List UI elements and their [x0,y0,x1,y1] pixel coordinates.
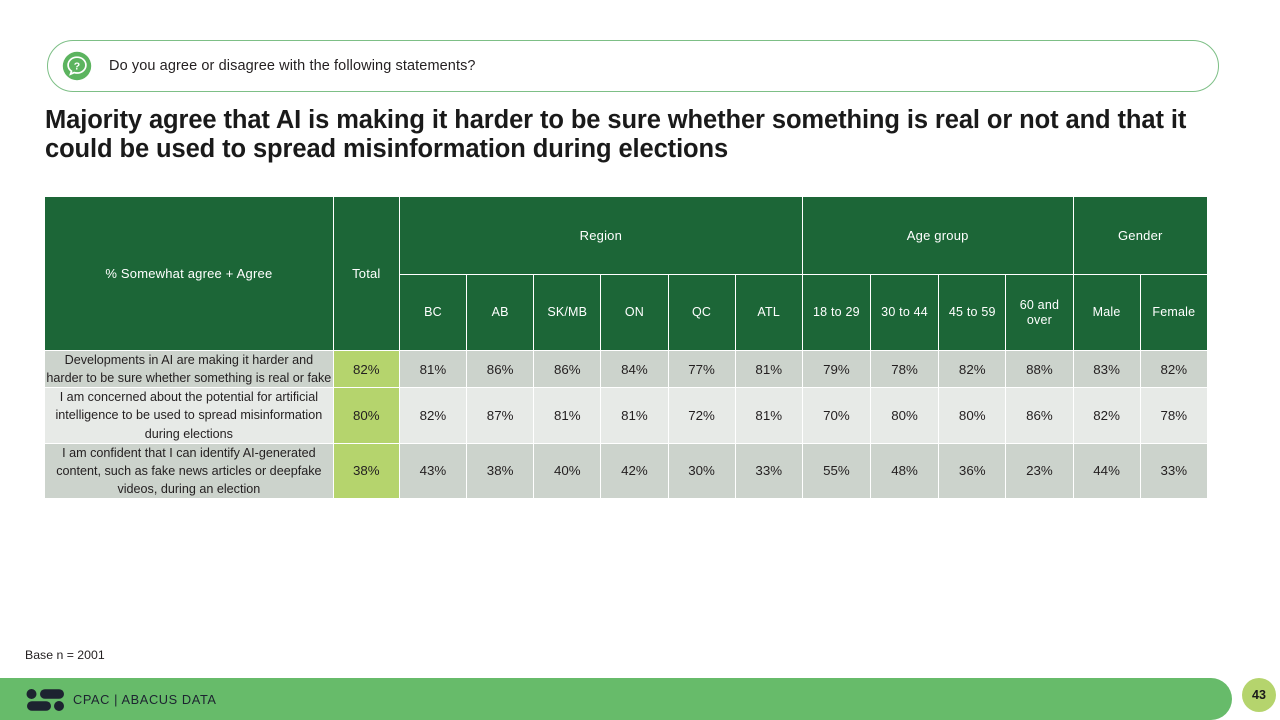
data-cell: 79% [802,351,870,388]
column-header-30-to-44: 30 to 44 [870,275,938,351]
row-label: I am confident that I can identify AI-ge… [45,443,334,498]
data-cell: 78% [1140,388,1207,443]
column-header-qc: QC [668,275,735,351]
header-group-row: % Somewhat agree + Agree Total RegionAge… [45,197,1208,275]
table-row: Developments in AI are making it harder … [45,351,1208,388]
column-header-male: Male [1073,275,1140,351]
data-cell: 86% [1006,388,1073,443]
data-cell: 86% [534,351,601,388]
data-cell: 82% [399,388,466,443]
data-cell: 82% [1073,388,1140,443]
column-header-female: Female [1140,275,1207,351]
column-header-on: ON [601,275,668,351]
data-cell: 42% [601,443,668,498]
cpac-dots-logo-icon [25,688,69,712]
table-row: I am confident that I can identify AI-ge… [45,443,1208,498]
stub-header: % Somewhat agree + Agree [45,197,334,351]
total-value: 82% [333,351,399,388]
data-cell: 84% [601,351,668,388]
data-cell: 78% [870,351,938,388]
page-number-badge: 43 [1242,678,1276,712]
data-cell: 33% [735,443,802,498]
data-cell: 83% [1073,351,1140,388]
data-cell: 81% [399,351,466,388]
column-header-18-to-29: 18 to 29 [802,275,870,351]
group-header: Age group [802,197,1073,275]
data-cell: 86% [467,351,534,388]
data-cell: 80% [870,388,938,443]
data-cell: 30% [668,443,735,498]
data-cell: 81% [601,388,668,443]
data-cell: 38% [467,443,534,498]
data-cell: 81% [735,388,802,443]
slide: ? Do you agree or disagree with the foll… [0,0,1280,720]
data-cell: 80% [939,388,1006,443]
total-value: 80% [333,388,399,443]
data-cell: 44% [1073,443,1140,498]
column-header-45-to-59: 45 to 59 [939,275,1006,351]
question-speech-bubble-icon: ? [62,51,92,81]
total-value: 38% [333,443,399,498]
row-label: Developments in AI are making it harder … [45,351,334,388]
column-header-ab: AB [467,275,534,351]
question-banner-text: Do you agree or disagree with the follow… [109,58,476,74]
data-cell: 88% [1006,351,1073,388]
data-cell: 82% [1140,351,1207,388]
base-note: Base n = 2001 [25,648,105,662]
data-cell: 43% [399,443,466,498]
question-banner: ? Do you agree or disagree with the foll… [47,40,1219,92]
data-cell: 81% [735,351,802,388]
data-cell: 70% [802,388,870,443]
column-header-60-and-over: 60 and over [1006,275,1073,351]
table-body: Developments in AI are making it harder … [45,351,1208,499]
page-title: Majority agree that AI is making it hard… [45,106,1205,164]
group-header: Region [399,197,802,275]
data-cell: 36% [939,443,1006,498]
total-header: Total [333,197,399,351]
column-header-bc: BC [399,275,466,351]
results-table: % Somewhat agree + Agree Total RegionAge… [44,196,1208,499]
data-cell: 23% [1006,443,1073,498]
data-cell: 40% [534,443,601,498]
column-header-atl: ATL [735,275,802,351]
data-cell: 87% [467,388,534,443]
footer-text: CPAC | ABACUS DATA [73,692,217,707]
data-cell: 77% [668,351,735,388]
table-header: % Somewhat agree + Agree Total RegionAge… [45,197,1208,351]
svg-text:?: ? [74,61,80,73]
table-row: I am concerned about the potential for a… [45,388,1208,443]
group-header: Gender [1073,197,1207,275]
row-label: I am concerned about the potential for a… [45,388,334,443]
data-cell: 55% [802,443,870,498]
data-cell: 48% [870,443,938,498]
data-cell: 81% [534,388,601,443]
data-cell: 33% [1140,443,1207,498]
data-cell: 72% [668,388,735,443]
column-header-sk-mb: SK/MB [534,275,601,351]
data-cell: 82% [939,351,1006,388]
